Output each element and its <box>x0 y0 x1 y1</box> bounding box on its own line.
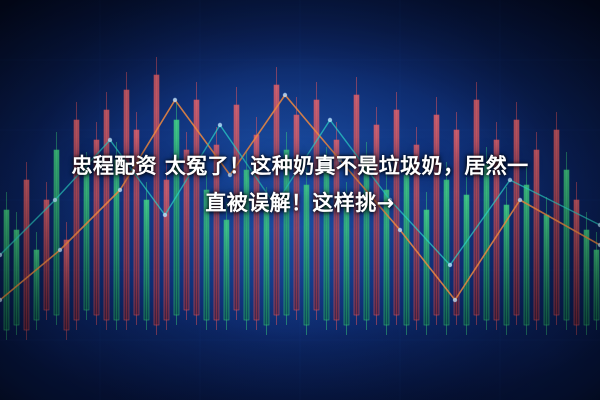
headline-line-1: 忠程配资 太冤了！这种奶真不是垃圾奶，居然一 <box>14 148 586 185</box>
headline-line-2: 直被误解！这样挑→ <box>14 185 586 222</box>
image-canvas: 忠程配资 太冤了！这种奶真不是垃圾奶，居然一 直被误解！这样挑→ <box>0 0 600 400</box>
headline-text: 忠程配资 太冤了！这种奶真不是垃圾奶，居然一 直被误解！这样挑→ <box>0 148 600 222</box>
